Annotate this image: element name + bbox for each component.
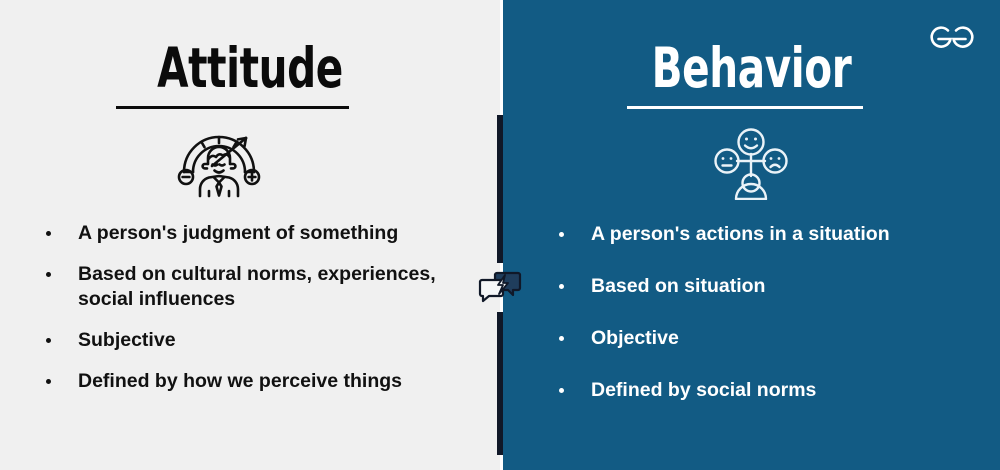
comparison-slide: Attitude [0,0,1000,470]
versus-speech-bubbles-icon [477,265,523,309]
attitude-title: Attitude [45,41,455,96]
list-item: Defined by social norms [551,378,981,403]
divider-line-top [497,115,503,263]
list-item: Based on cultural norms, experiences, so… [38,262,458,312]
list-item: Subjective [38,328,458,353]
list-item: Defined by how we perceive things [38,369,458,394]
attitude-meter-icon [176,126,262,203]
behavior-bullet-list: A person's actions in a situation Based … [551,222,981,430]
attitude-bullet-list: A person's judgment of something Based o… [38,221,458,410]
attitude-title-underline [116,106,349,109]
list-item: A person's judgment of something [38,221,458,246]
list-item: Objective [551,326,981,351]
list-item: Based on situation [551,274,981,299]
list-item: A person's actions in a situation [551,222,981,247]
divider-line-bottom [497,312,503,455]
